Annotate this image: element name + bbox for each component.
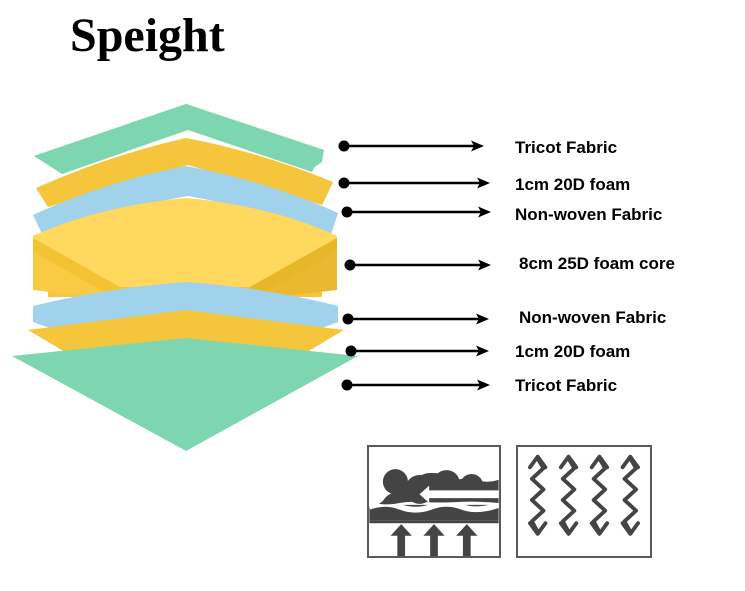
leader-dot <box>345 260 356 271</box>
callout-leader-1 <box>339 141 485 152</box>
zigzag-arrows <box>530 457 638 534</box>
layer-tricot-bottom[interactable] <box>12 338 358 451</box>
airflow-zigzag-glyph <box>518 447 650 556</box>
pressure-arrows <box>391 524 478 556</box>
leader-dot <box>339 178 350 189</box>
pressure-support-icon[interactable] <box>367 445 501 558</box>
callout-leader-3 <box>342 207 492 218</box>
callout-label-4: 8cm 25D foam core <box>519 255 675 272</box>
leader-dot <box>346 346 357 357</box>
callout-leader-4 <box>345 260 492 271</box>
callout-label-6: 1cm 20D foam <box>515 343 630 360</box>
callout-label-7: Tricot Fabric <box>515 377 617 394</box>
leader-dot <box>342 380 353 391</box>
callout-leader-2 <box>339 178 491 189</box>
callout-leader-5 <box>343 314 490 325</box>
callout-leader-6 <box>346 346 490 357</box>
pressure-support-glyph <box>369 447 499 556</box>
leader-dot <box>339 141 350 152</box>
callout-label-1: Tricot Fabric <box>515 139 617 156</box>
callout-label-3: Non-woven Fabric <box>515 206 662 223</box>
callout-leader-lines <box>339 141 492 391</box>
callout-leader-7 <box>342 380 491 391</box>
leader-dot <box>343 314 354 325</box>
breathability-airflow-icon[interactable] <box>516 445 652 558</box>
callout-label-2: 1cm 20D foam <box>515 176 630 193</box>
callout-label-5: Non-woven Fabric <box>519 309 666 326</box>
leader-dot <box>342 207 353 218</box>
diagram-canvas: Speight <box>0 0 745 591</box>
